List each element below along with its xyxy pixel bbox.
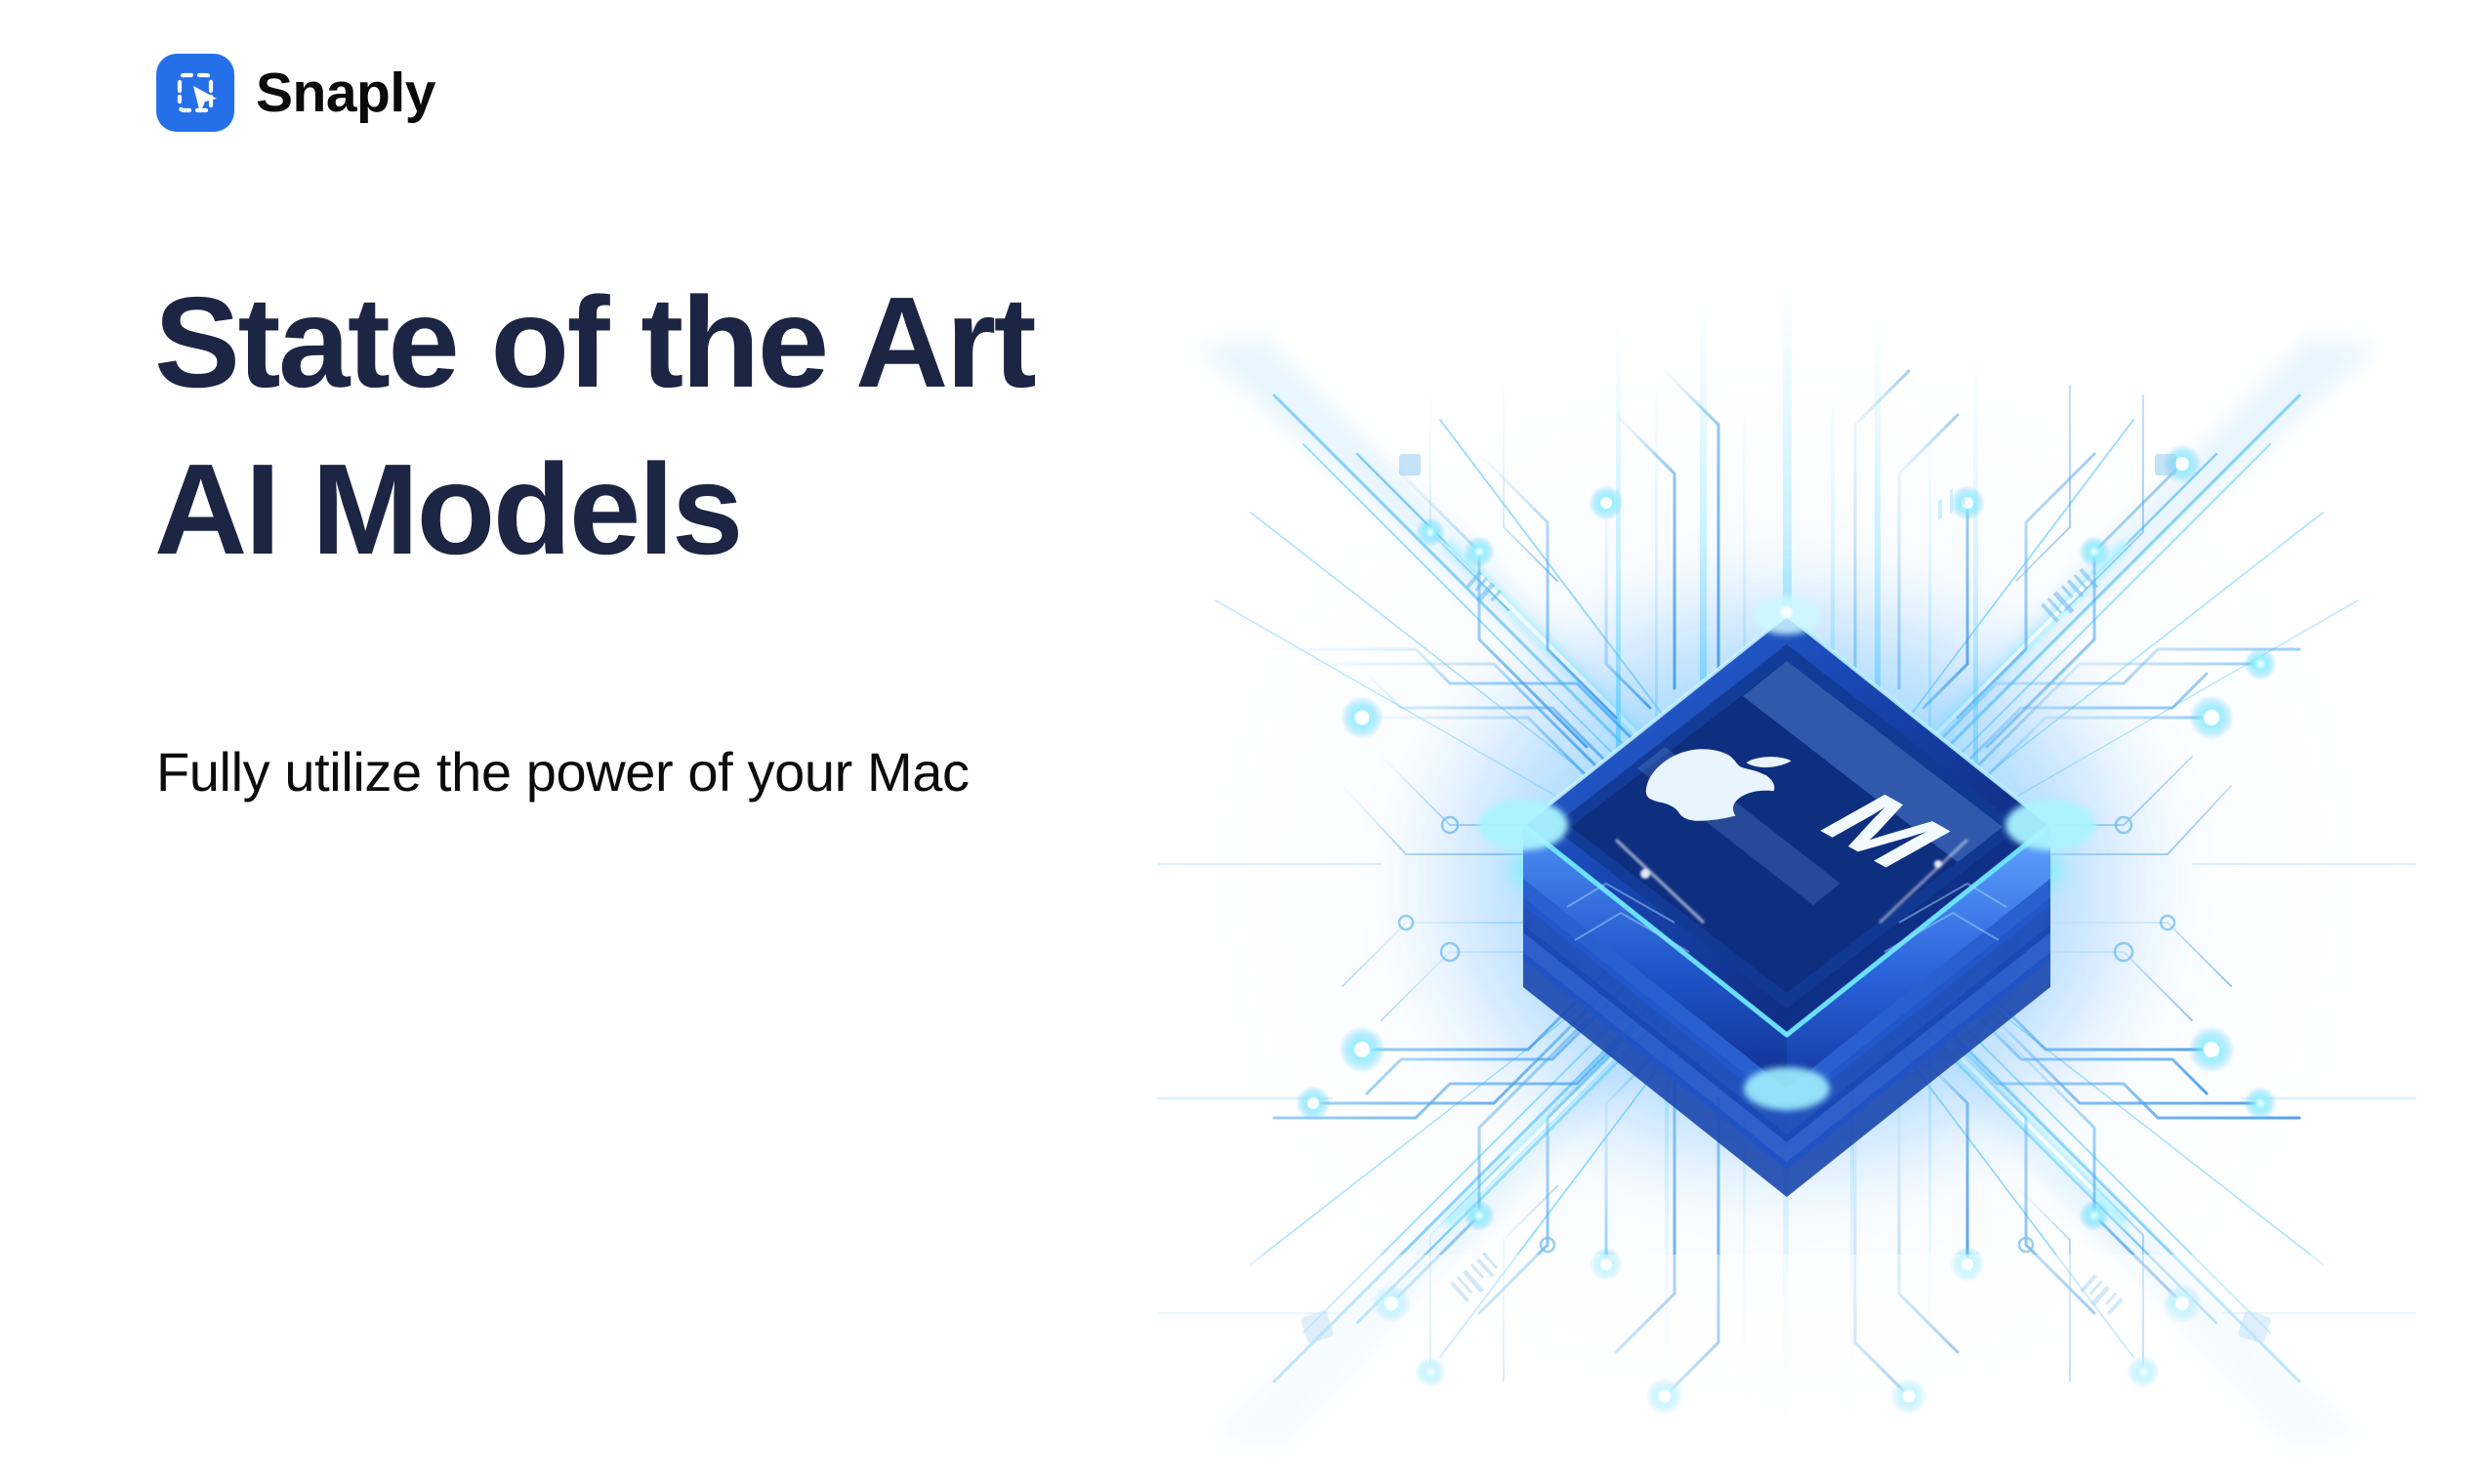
svg-text:M: M bbox=[1794, 780, 1974, 882]
page-title: State of the Art AI Models bbox=[154, 260, 1189, 593]
apple-silicon-chip: M bbox=[1478, 487, 2095, 1197]
brand-name: Snaply bbox=[256, 65, 435, 121]
chip-artwork-svg: M bbox=[1157, 278, 2417, 1484]
hero-slide: M bbox=[0, 0, 2480, 1484]
apple-silicon-chip-illustration: M bbox=[1157, 278, 2417, 1484]
snaply-selection-cursor-icon bbox=[156, 54, 234, 132]
page-subtitle: Fully utilize the power of your Mac bbox=[156, 738, 970, 806]
brand-logo[interactable]: Snaply bbox=[156, 54, 435, 132]
snaply-icon-glyph bbox=[156, 54, 234, 132]
hero-text-column: Snaply State of the Art AI Models Fully … bbox=[0, 0, 1220, 1484]
